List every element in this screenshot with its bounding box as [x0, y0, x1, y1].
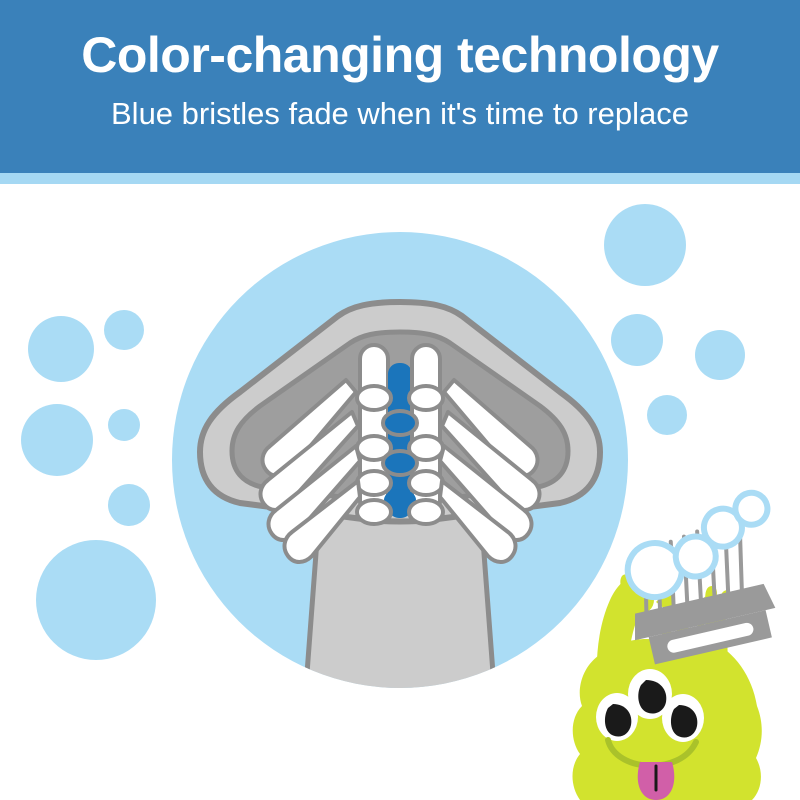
bubble-icon	[36, 540, 156, 660]
bubble-icon	[28, 316, 94, 382]
bubble-icon	[695, 330, 745, 380]
bristle-ring	[409, 500, 443, 524]
bristle-ring	[409, 386, 443, 410]
bristle-ring	[357, 386, 391, 410]
bubble-icon	[108, 484, 150, 526]
illustration-scene	[0, 0, 800, 800]
bubble-icon	[611, 314, 663, 366]
bristle-ring	[409, 471, 443, 495]
bubble-cluster-right	[604, 204, 745, 435]
bubble-icon	[104, 310, 144, 350]
bubble-cluster-left	[21, 310, 156, 660]
bristle-ring	[357, 471, 391, 495]
bubble-icon	[604, 204, 686, 286]
bristle-ring-indicator	[383, 451, 417, 475]
infographic-page: Color-changing technology Blue bristles …	[0, 0, 800, 800]
bristle-ring-indicator	[383, 411, 417, 435]
brush-bubble-icon	[732, 490, 770, 528]
bubble-icon	[21, 404, 93, 476]
bubble-icon	[647, 395, 687, 435]
bubble-icon	[108, 409, 140, 441]
bristle-ring	[357, 500, 391, 524]
